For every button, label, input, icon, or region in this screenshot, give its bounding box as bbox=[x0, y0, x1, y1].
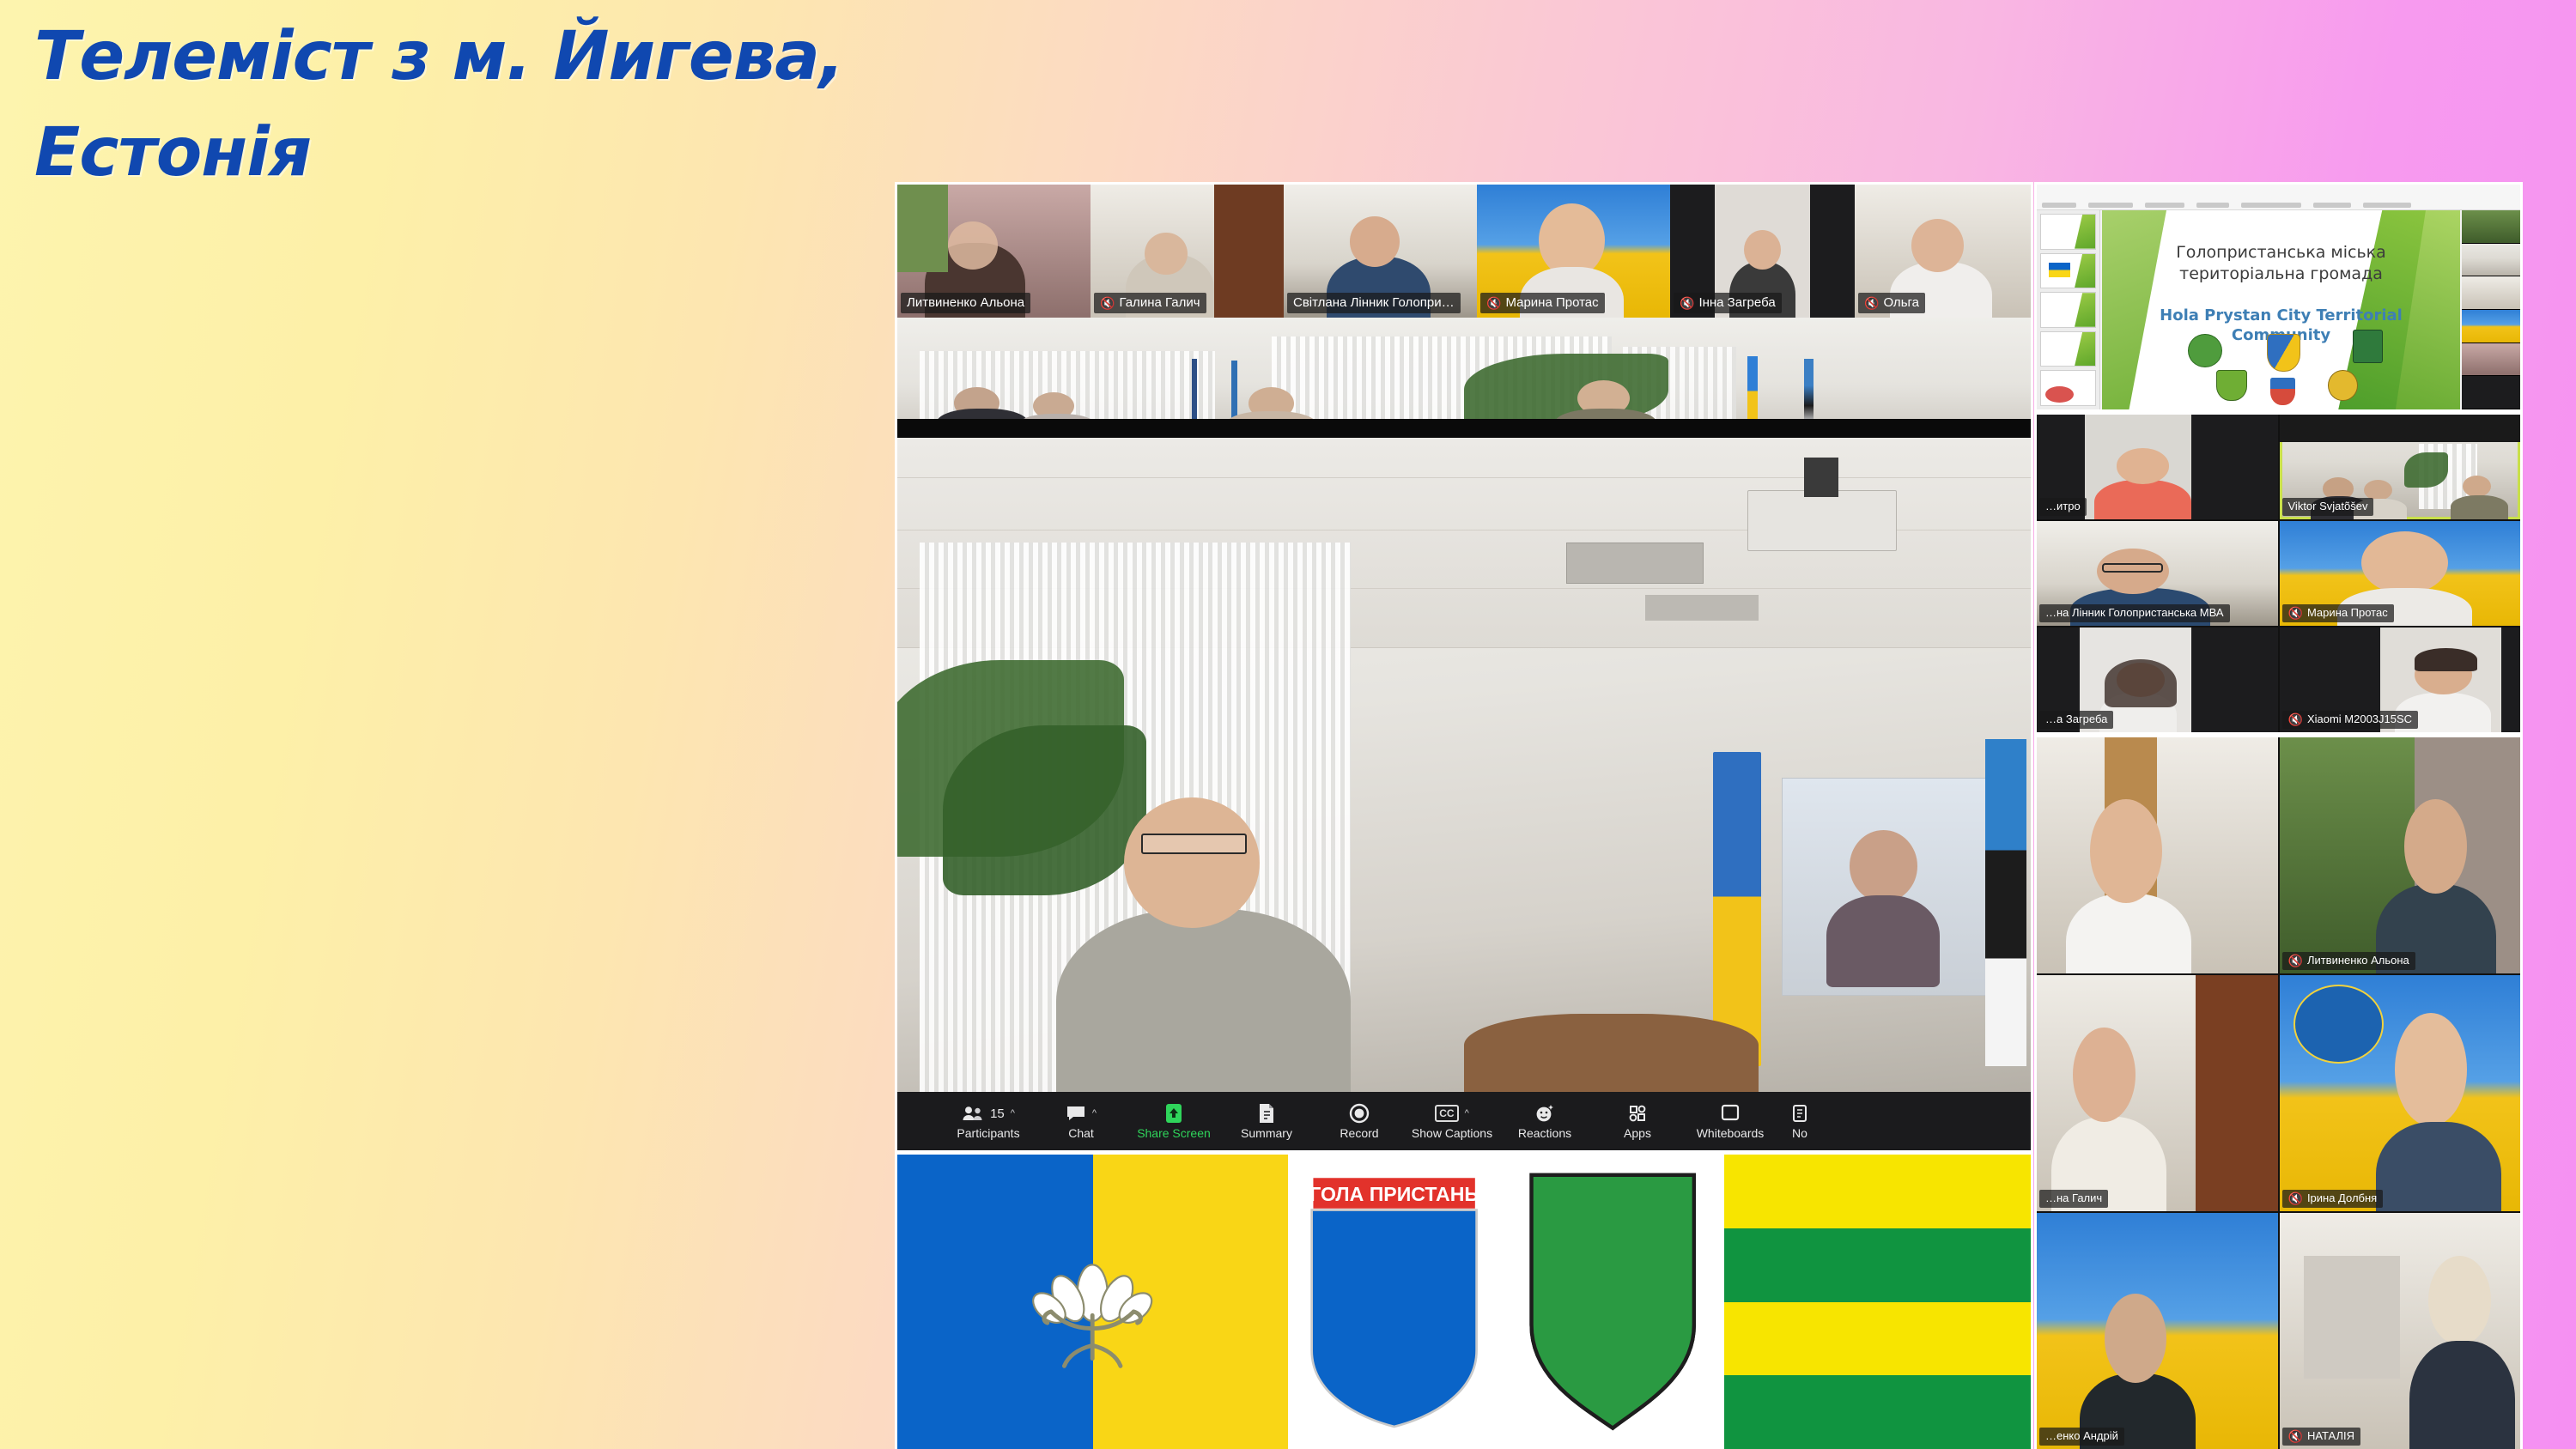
shared-slide-stage: Голопристанська міська територіальна гро… bbox=[2102, 210, 2460, 409]
tile-name: Ірина Долбня bbox=[2307, 1191, 2377, 1206]
toolbar-label: Apps bbox=[1624, 1127, 1651, 1140]
toolbar-notes-button[interactable]: No bbox=[1777, 1094, 1823, 1148]
participant-video bbox=[2037, 1213, 2278, 1449]
record-icon bbox=[1349, 1102, 1370, 1125]
gallery-tile[interactable]: 🔇 Литвиненко Альона bbox=[2280, 737, 2521, 973]
mute-icon: 🔇 bbox=[2288, 1430, 2303, 1442]
participant-count: 15 bbox=[990, 1106, 1005, 1121]
participant-nametag: 🔇 Литвиненко Альона bbox=[2282, 952, 2415, 970]
emblem-icon bbox=[2188, 334, 2222, 367]
apps-icon bbox=[1627, 1102, 1648, 1125]
slide-thumbnail[interactable] bbox=[2040, 331, 2096, 367]
summary-icon bbox=[1257, 1102, 1276, 1125]
filmstrip-name: Інна Загреба bbox=[1698, 294, 1775, 312]
toolbar-label: Show Captions bbox=[1412, 1127, 1492, 1140]
filmstrip-tile[interactable]: 🔇 Ольга bbox=[1855, 185, 2031, 318]
coat-banner-text: ГОЛА ПРИСТАНЬ bbox=[1310, 1183, 1479, 1205]
slide-thumbnail[interactable] bbox=[2040, 292, 2096, 328]
slide-thumbnail[interactable] bbox=[2040, 214, 2096, 250]
toolbar-chat-button[interactable]: ^ Chat bbox=[1035, 1094, 1127, 1148]
gallery-thumb[interactable] bbox=[2462, 210, 2520, 244]
toolbar-show-captions-button[interactable]: CC ^ Show Captions bbox=[1406, 1094, 1498, 1148]
tile-name: Литвиненко Альона bbox=[2307, 953, 2409, 968]
chat-icon: ^ bbox=[1066, 1102, 1097, 1125]
mute-icon: 🔇 bbox=[2288, 607, 2303, 619]
gallery-tile[interactable]: …а Загреба bbox=[2037, 627, 2278, 732]
powerpoint-ribbon bbox=[2037, 185, 2520, 210]
coat-of-arms-hola-prystan: ГОЛА ПРИСТАНЬ bbox=[1288, 1155, 1501, 1449]
symbols-strip: ГОЛА ПРИСТАНЬ bbox=[897, 1155, 2031, 1449]
toolbar-share-screen-button[interactable]: Share Screen bbox=[1127, 1094, 1220, 1148]
shared-screen-side-gallery bbox=[2462, 210, 2520, 409]
participant-video bbox=[2280, 1213, 2521, 1449]
gallery-tile[interactable]: Viktor Svjatõšev bbox=[2280, 415, 2521, 519]
participant-nametag: …на Лінник Голопристанська МВА bbox=[2039, 604, 2230, 622]
emblem-icon bbox=[2270, 378, 2295, 405]
toolbar-label: Whiteboards bbox=[1697, 1127, 1765, 1140]
gallery-tile[interactable]: …на Лінник Голопристанська МВА bbox=[2037, 521, 2278, 626]
participant-nametag: 🔇 Марина Протас bbox=[2282, 604, 2394, 622]
filmstrip-name: Галина Галич bbox=[1119, 294, 1200, 312]
filmstrip-name: Марина Протас bbox=[1505, 294, 1598, 312]
slide-thumbnail[interactable] bbox=[2040, 370, 2096, 406]
toolbar-label: Participants bbox=[957, 1127, 1019, 1140]
right-column: Голопристанська міська територіальна гро… bbox=[2037, 185, 2520, 1449]
participant-nametag: 🔇 Інна Загреба bbox=[1674, 293, 1782, 313]
meeting-screenshot-composite: Литвиненко Альона 🔇 Галина Галич bbox=[897, 185, 2520, 1449]
participant-nametag: …на Галич bbox=[2039, 1190, 2108, 1208]
toolbar-apps-button[interactable]: Apps bbox=[1591, 1094, 1684, 1148]
toolbar-label: Summary bbox=[1241, 1127, 1292, 1140]
tile-name: …а Загреба bbox=[2045, 712, 2107, 727]
flag-hola-prystan bbox=[897, 1155, 1288, 1449]
tile-name: Марина Протас bbox=[2307, 605, 2388, 621]
tile-name: …итро bbox=[2045, 499, 2081, 514]
filmstrip-name: Литвиненко Альона bbox=[907, 294, 1024, 312]
filmstrip-tile[interactable]: Литвиненко Альона bbox=[897, 185, 1091, 318]
participant-video bbox=[2037, 737, 2278, 973]
participant-video bbox=[2037, 975, 2278, 1211]
gallery-tile[interactable]: 🔇 Xiaomi M2003J15SC bbox=[2280, 627, 2521, 732]
chevron-up-icon[interactable]: ^ bbox=[1465, 1108, 1469, 1119]
emblem-icon bbox=[2328, 370, 2358, 402]
tile-name: НАТАЛІЯ bbox=[2307, 1428, 2354, 1444]
gallery-panel-top: …итро Viktor Svjatõšev bbox=[2037, 415, 2520, 732]
filmstrip-tile[interactable]: 🔇 Галина Галич bbox=[1091, 185, 1284, 318]
filmstrip-tile[interactable]: Світлана Лінник Голопри… bbox=[1284, 185, 1477, 318]
mute-icon: 🔇 bbox=[2288, 713, 2303, 725]
gallery-thumb[interactable] bbox=[2462, 310, 2520, 343]
gallery-tile[interactable]: …на Галич bbox=[2037, 975, 2278, 1211]
toolbar-whiteboards-button[interactable]: Whiteboards bbox=[1684, 1094, 1777, 1148]
participant-nametag: 🔇 Ірина Долбня bbox=[2282, 1190, 2384, 1208]
gallery-thumb[interactable] bbox=[2462, 376, 2520, 409]
page-title: Телеміст з м. Йигева, Естонія bbox=[34, 9, 859, 201]
shared-screen-panel[interactable]: Голопристанська міська територіальна гро… bbox=[2037, 185, 2520, 409]
tile-name: …на Галич bbox=[2045, 1191, 2102, 1206]
toolbar-reactions-button[interactable]: Reactions bbox=[1498, 1094, 1591, 1148]
slide-thumbnail[interactable] bbox=[2040, 253, 2096, 289]
participant-nametag: 🔇 Галина Галич bbox=[1094, 293, 1206, 313]
gallery-tile[interactable]: 🔇 Ірина Долбня bbox=[2280, 975, 2521, 1211]
toolbar-record-button[interactable]: Record bbox=[1313, 1094, 1406, 1148]
chevron-up-icon[interactable]: ^ bbox=[1011, 1108, 1015, 1119]
reactions-icon bbox=[1534, 1102, 1555, 1125]
gallery-tile[interactable] bbox=[2037, 737, 2278, 973]
participant-nametag: 🔇 Ольга bbox=[1858, 293, 1925, 313]
emblem-icon bbox=[2353, 330, 2383, 363]
filmstrip-tile[interactable]: 🔇 Інна Загреба bbox=[1670, 185, 1855, 318]
toolbar-label: No bbox=[1792, 1127, 1807, 1140]
participant-nametag: …итро bbox=[2039, 498, 2087, 516]
tile-name: Viktor Svjatõšev bbox=[2288, 499, 2368, 514]
filmstrip-name: Ольга bbox=[1883, 294, 1919, 312]
tile-name: …енко Андрій bbox=[2045, 1428, 2118, 1444]
zoom-client-window: Литвиненко Альона 🔇 Галина Галич bbox=[897, 185, 2031, 1150]
participants-icon: 15 ^ bbox=[962, 1102, 1015, 1125]
gallery-tile[interactable]: …итро bbox=[2037, 415, 2278, 519]
mute-icon: 🔇 bbox=[1100, 297, 1115, 309]
participant-nametag: Viktor Svjatõšev bbox=[2282, 498, 2374, 516]
main-speaker-video[interactable] bbox=[897, 438, 2031, 1092]
toolbar-label: Record bbox=[1340, 1127, 1378, 1140]
toolbar-summary-button[interactable]: Summary bbox=[1220, 1094, 1313, 1148]
mute-icon: 🔇 bbox=[1864, 297, 1879, 309]
toolbar-participants-button[interactable]: 15 ^ Participants bbox=[942, 1094, 1035, 1148]
emblem-icon bbox=[2216, 370, 2246, 402]
participant-nametag: …енко Андрій bbox=[2039, 1428, 2124, 1446]
slide-thumbnail-list[interactable] bbox=[2037, 210, 2100, 409]
mute-icon: 🔇 bbox=[2288, 955, 2303, 967]
participant-video bbox=[2280, 737, 2521, 973]
mute-icon: 🔇 bbox=[2288, 1192, 2303, 1204]
participant-nametag: 🔇 Марина Протас bbox=[1480, 293, 1605, 313]
gallery-thumb[interactable] bbox=[2462, 244, 2520, 277]
panoramic-room-video[interactable] bbox=[897, 318, 2031, 438]
participant-nametag: Литвиненко Альона bbox=[901, 293, 1030, 313]
closed-captions-icon: CC ^ bbox=[1435, 1102, 1469, 1125]
gallery-thumb[interactable] bbox=[2462, 343, 2520, 377]
gallery-tile[interactable]: 🔇 Марина Протас bbox=[2280, 521, 2521, 626]
toolbar-label: Reactions bbox=[1518, 1127, 1571, 1140]
gallery-panel-bottom: 🔇 Литвиненко Альона …на Галич bbox=[2037, 737, 2520, 1449]
zoom-toolbar: 15 ^ Participants ^ Chat bbox=[897, 1092, 2031, 1150]
share-screen-icon bbox=[1163, 1102, 1185, 1125]
coat-of-arms-jogeva bbox=[1501, 1155, 1724, 1449]
participant-video bbox=[2280, 975, 2521, 1211]
emblem-icon bbox=[2267, 334, 2301, 372]
mute-icon: 🔇 bbox=[1680, 297, 1694, 309]
chevron-up-icon[interactable]: ^ bbox=[1092, 1108, 1097, 1119]
shared-slide-title-ua: Голопристанська міська територіальна гро… bbox=[2130, 242, 2431, 285]
tile-name: Xiaomi M2003J15SC bbox=[2307, 712, 2412, 727]
participant-filmstrip: Литвиненко Альона 🔇 Галина Галич bbox=[897, 185, 2031, 318]
filmstrip-name: Світлана Лінник Голопри… bbox=[1293, 294, 1455, 312]
participant-nametag: 🔇 НАТАЛІЯ bbox=[2282, 1428, 2360, 1446]
notes-icon bbox=[1790, 1102, 1809, 1125]
gallery-thumb[interactable] bbox=[2462, 276, 2520, 310]
participant-nametag: Світлана Лінник Голопри… bbox=[1287, 293, 1461, 313]
toolbar-label: Share Screen bbox=[1137, 1127, 1211, 1140]
mute-icon: 🔇 bbox=[1486, 297, 1501, 309]
participant-nametag: 🔇 Xiaomi M2003J15SC bbox=[2282, 711, 2419, 729]
toolbar-label: Chat bbox=[1068, 1127, 1094, 1140]
participant-nametag: …а Загреба bbox=[2039, 711, 2113, 729]
tile-name: …на Лінник Голопристанська МВА bbox=[2045, 605, 2224, 621]
filmstrip-tile[interactable]: 🔇 Марина Протас bbox=[1477, 185, 1670, 318]
gallery-tile[interactable]: 🔇 НАТАЛІЯ bbox=[2280, 1213, 2521, 1449]
gallery-tile[interactable]: …енко Андрій bbox=[2037, 1213, 2278, 1449]
flag-jogeva bbox=[1724, 1155, 2031, 1449]
whiteboard-icon bbox=[1720, 1102, 1741, 1125]
